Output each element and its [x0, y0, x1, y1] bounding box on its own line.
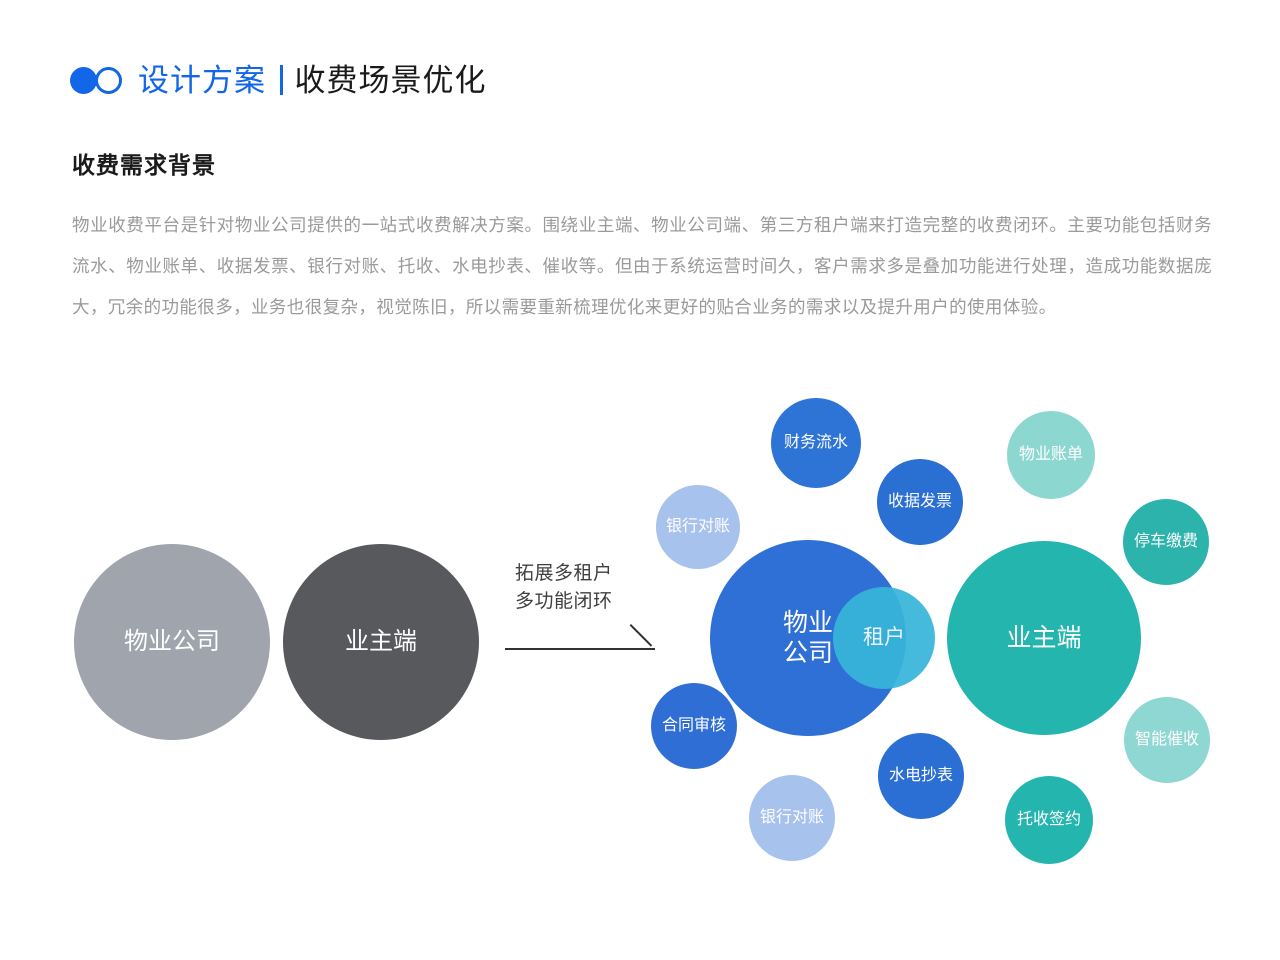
section-heading: 收费需求背景: [72, 146, 216, 180]
transition-label-line2: 多功能闭环: [505, 588, 675, 616]
after-bubble-7: 水电抄表: [878, 733, 964, 819]
transition-label-line1: 拓展多租户: [505, 560, 675, 588]
bubble-label: 业主端: [345, 627, 417, 656]
section-paragraph: 物业收费平台是针对物业公司提供的一站式收费解决方案。围绕业主端、物业公司端、第三…: [72, 205, 1212, 328]
after-bubble-2: 收据发票: [877, 459, 963, 545]
before-bubble-1: 业主端: [283, 544, 479, 740]
after-bubble-1: 财务流水: [771, 398, 861, 488]
outline-circle-icon: [95, 67, 122, 94]
header-title-primary: 设计方案: [138, 65, 266, 96]
bubble-label: 托收签约: [1017, 810, 1081, 830]
after-bubble-9: 合同审核: [651, 683, 737, 769]
transition-arrow-group: 拓展多租户 多功能闭环: [505, 560, 675, 670]
bubble-label: 银行对账: [760, 808, 824, 828]
bubble-label: 停车缴费: [1134, 532, 1198, 552]
two-circles-icon: [70, 67, 122, 94]
arrow-head-icon: [631, 624, 657, 650]
bubble-label: 收据发票: [888, 492, 952, 512]
bubble-label: 物业账单: [1019, 445, 1083, 465]
after-bubble-10: 业主端: [947, 541, 1141, 735]
bubble-label: 合同审核: [662, 716, 726, 736]
bubble-label: 水电抄表: [889, 766, 953, 786]
bubble-label: 银行对账: [666, 517, 730, 537]
bubble-label: 物业公司: [124, 627, 220, 656]
after-bubble-0: 银行对账: [656, 485, 740, 569]
header-title-secondary: 收费场景优化: [295, 65, 487, 96]
after-bubble-8: 银行对账: [749, 775, 835, 861]
filled-circle-icon: [70, 67, 97, 94]
bubble-label: 财务流水: [784, 433, 848, 453]
after-bubble-6: 托收签约: [1005, 776, 1093, 864]
bubble-label: 租户: [863, 625, 905, 651]
bubble-diagram: 物业公司业主端 拓展多租户 多功能闭环 银行对账财务流水收据发票物业账单停车缴费…: [0, 380, 1280, 900]
after-bubble-12: 租户: [833, 587, 935, 689]
bubble-label-line1: 物业: [783, 608, 833, 639]
after-bubble-5: 智能催收: [1124, 697, 1210, 783]
after-bubble-4: 停车缴费: [1123, 499, 1209, 585]
bubble-label: 业主端: [1006, 623, 1081, 654]
after-bubble-3: 物业账单: [1007, 411, 1095, 499]
bubble-label-line2: 公司: [783, 638, 833, 669]
header-separator: [280, 65, 283, 95]
slide-header: 设计方案 收费场景优化: [70, 56, 487, 104]
before-bubble-0: 物业公司: [74, 544, 270, 740]
bubble-label: 智能催收: [1135, 730, 1199, 750]
